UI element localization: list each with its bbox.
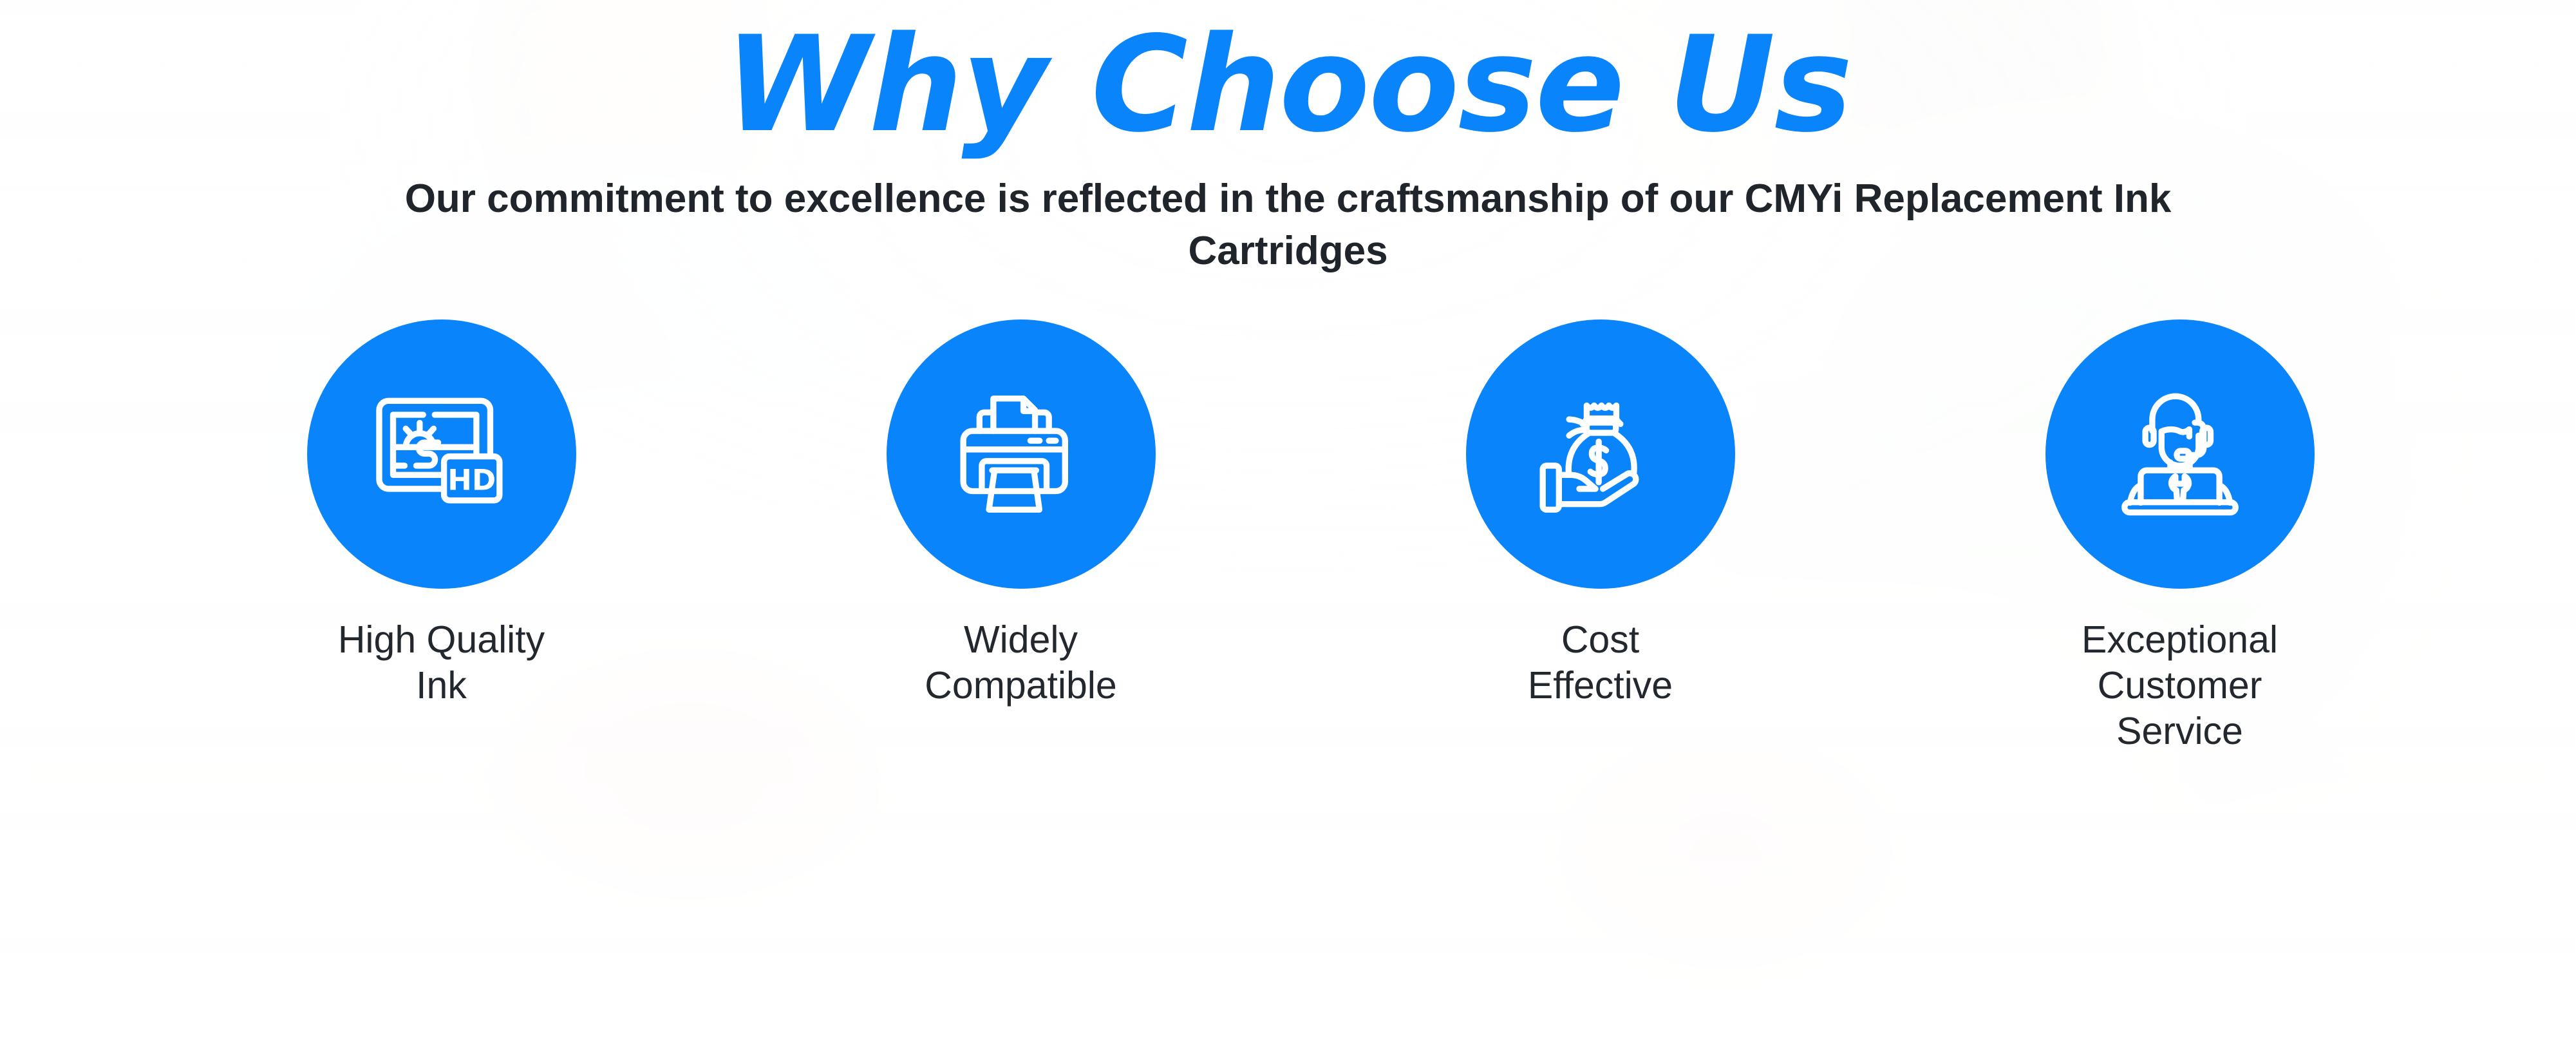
svg-text:HD: HD [447, 463, 496, 497]
feature-label: Exceptional Customer Service [2045, 617, 2315, 754]
feature-item-widely-compatible[interactable]: Widely Compatible [887, 319, 1156, 709]
banner-content: Why Choose Us Our commitment to excellen… [0, 0, 2576, 1057]
icon-badge-circle [1466, 319, 1735, 589]
money-bag-in-hand-icon [1527, 380, 1675, 528]
printer-icon [947, 380, 1095, 528]
support-agent-headset-icon [2106, 380, 2254, 528]
feature-item-cost-effective[interactable]: Cost Effective [1466, 319, 1735, 709]
icon-badge-circle [887, 319, 1156, 589]
subtitle: Our commitment to excellence is reflecte… [355, 173, 2222, 277]
why-choose-us-banner: Why Choose Us Our commitment to excellen… [0, 0, 2576, 1057]
feature-label: Cost Effective [1528, 617, 1673, 709]
feature-label: Widely Compatible [925, 617, 1116, 709]
feature-item-exceptional-customer-service[interactable]: Exceptional Customer Service [2045, 319, 2315, 754]
page-title: Why Choose Us [724, 19, 1851, 151]
feature-label: High Quality Ink [338, 617, 545, 709]
icon-badge-circle [2045, 319, 2315, 589]
icon-badge-circle: HD [307, 319, 576, 589]
hd-image-icon: HD [368, 380, 516, 528]
feature-list: HD High Quality Ink [0, 319, 2576, 754]
feature-item-high-quality-ink[interactable]: HD High Quality Ink [307, 319, 576, 709]
